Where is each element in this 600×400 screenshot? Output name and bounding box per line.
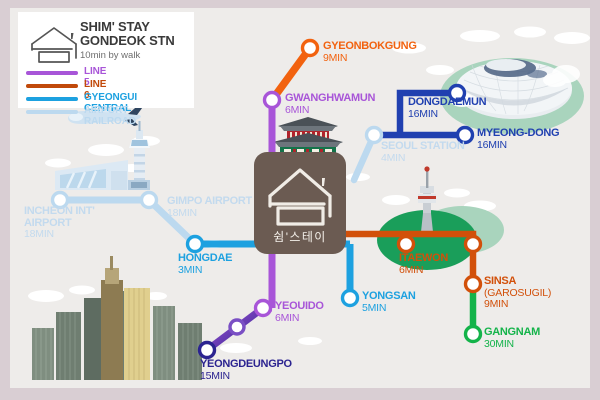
- legend-subtitle: 10min by walk: [80, 50, 140, 61]
- legend-swatch-airport: [26, 110, 78, 114]
- station-node-line6-corner: [466, 237, 481, 252]
- station-name: GANGNAM: [484, 326, 540, 338]
- legend-label-airport: AIRPORT RAILROAD: [84, 105, 136, 127]
- shim-stay-badge[interactable]: 쉼'스테이: [254, 152, 346, 254]
- station-label-seoulstation[interactable]: SEOUL STATION 4MIN: [381, 141, 465, 164]
- station-time: 30MIN: [484, 339, 540, 351]
- station-time: 18MIN: [167, 208, 252, 220]
- station-label-incheon[interactable]: INCHEON INT' AIRPORT 18MIN: [24, 206, 95, 241]
- station-label-yeouido[interactable]: YEOUIDO 6MIN: [275, 301, 324, 324]
- station-time: 16MIN: [477, 140, 559, 152]
- station-time: 9MIN: [323, 53, 417, 65]
- station-label-gangnam[interactable]: GANGNAM 30MIN: [484, 327, 540, 350]
- station-time: 6MIN: [399, 265, 448, 277]
- station-node-seoulstation[interactable]: [367, 128, 382, 143]
- station-node-itaewon[interactable]: [399, 237, 414, 252]
- station-node-hongdae[interactable]: [188, 237, 203, 252]
- station-label-myeongdong[interactable]: MYEONG-DONG 16MIN: [477, 128, 559, 151]
- legend-title-line2: GONDEOK STN: [80, 33, 175, 48]
- station-label-itaewon[interactable]: ITAEWON 6MIN: [399, 253, 448, 276]
- legend-swatch-gyeongui: [26, 97, 78, 101]
- station-name: GIMPO AIRPORT: [167, 195, 252, 207]
- legend-swatch-line6: [26, 84, 78, 88]
- station-time: 15MIN: [200, 371, 292, 383]
- station-name: GYEONBOKGUNG: [323, 40, 417, 52]
- station-time: 9MIN: [484, 299, 551, 311]
- house-icon: [254, 152, 346, 236]
- station-time: 18MIN: [24, 229, 95, 241]
- station-label-yeongdeungpo[interactable]: YEONGDEUNGPO 15MIN: [200, 359, 292, 382]
- station-time: 6MIN: [285, 105, 375, 117]
- station-name: SEOUL STATION: [381, 140, 465, 152]
- station-node-yeouido[interactable]: [256, 301, 271, 316]
- station-name: YEOUIDO: [275, 300, 324, 312]
- station-time: 5MIN: [362, 303, 416, 315]
- station-node-gyeonbokgung[interactable]: [303, 41, 318, 56]
- station-name: HONGDAE: [178, 252, 232, 264]
- station-time: 6MIN: [275, 313, 324, 325]
- station-label-gimpo[interactable]: GIMPO AIRPORT 18MIN: [167, 196, 252, 219]
- station-label-dongdaemun[interactable]: DONGDAEMUN 16MIN: [408, 97, 486, 120]
- house-icon: [28, 22, 80, 66]
- station-node-yeongdeungpo[interactable]: [200, 343, 215, 358]
- station-time: 4MIN: [381, 153, 465, 165]
- station-node-gangnam[interactable]: [466, 327, 481, 342]
- legend-panel: SHIM' STAY GONDEOK STN 10min by walk LIN…: [18, 12, 194, 108]
- station-name-line2: AIRPORT: [24, 217, 71, 229]
- station-name: GWANGHWAMUN: [285, 92, 375, 104]
- station-node-yongsan[interactable]: [343, 291, 358, 306]
- station-label-sinsa[interactable]: SINSA (GAROSUGIL) 9MIN: [484, 276, 551, 311]
- badge-korean-label: 쉼'스테이: [254, 228, 346, 245]
- station-name: DONGDAEMUN: [408, 96, 486, 108]
- station-node-gwanghwamun[interactable]: [265, 93, 280, 108]
- station-node-yeouido-transfer: [230, 320, 244, 334]
- station-time: 16MIN: [408, 109, 486, 121]
- legend-title: SHIM' STAY GONDEOK STN: [80, 20, 175, 48]
- station-label-gyeonbokgung[interactable]: GYEONBOKGUNG 9MIN: [323, 41, 417, 64]
- station-name: INCHEON INT': [24, 205, 95, 217]
- station-node-gimpo[interactable]: [142, 193, 157, 208]
- station-name: YONGSAN: [362, 290, 416, 302]
- legend-title-line1: SHIM' STAY: [80, 19, 150, 34]
- station-name: YEONGDEUNGPO: [200, 358, 292, 370]
- station-label-yongsan[interactable]: YONGSAN 5MIN: [362, 291, 416, 314]
- station-name: ITAEWON: [399, 252, 448, 264]
- station-name: SINSA: [484, 275, 516, 287]
- station-label-gwanghwamun[interactable]: GWANGHWAMUN 6MIN: [285, 93, 375, 116]
- transit-map: 쉼'스테이 SHIM' STAY GONDEOK STN 10min by wa…: [10, 8, 590, 388]
- station-node-sinsa[interactable]: [466, 277, 481, 292]
- legend-swatch-line5: [26, 71, 78, 75]
- station-time: 3MIN: [178, 265, 232, 277]
- station-name: MYEONG-DONG: [477, 127, 559, 139]
- station-label-hongdae[interactable]: HONGDAE 3MIN: [178, 253, 232, 276]
